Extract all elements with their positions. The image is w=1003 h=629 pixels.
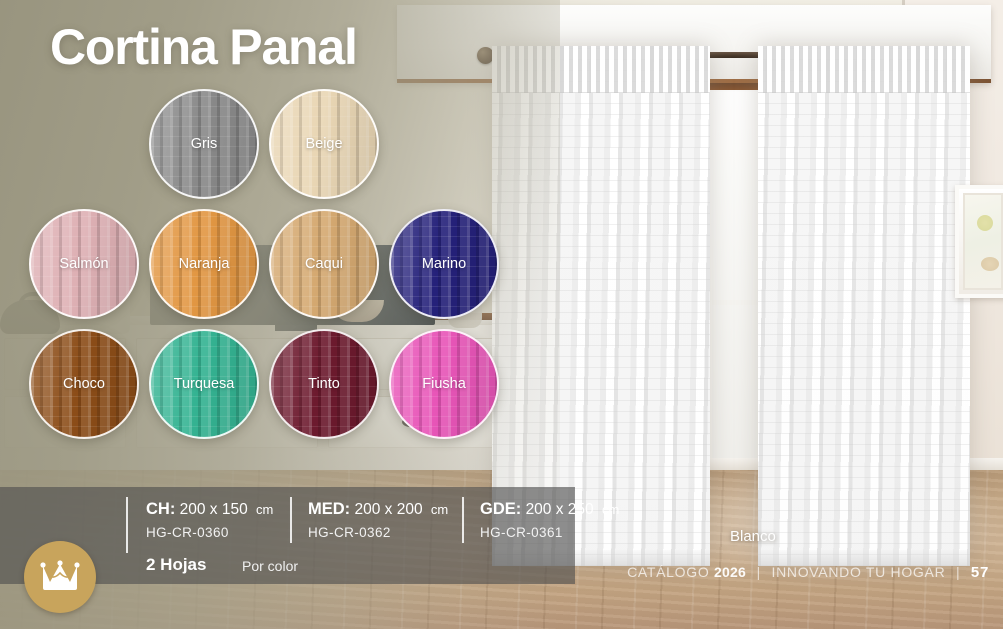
- footer-page-number: 57: [971, 564, 989, 581]
- crown-icon: [40, 560, 80, 594]
- page-title: Cortina Panal: [50, 18, 357, 76]
- footer-year: 2026: [714, 564, 746, 580]
- size-dimensions: 200 x 150: [180, 501, 248, 518]
- size-option-med[interactable]: MED: 200 x 200 cm HG-CR-0362: [308, 500, 448, 540]
- swatch-turquesa[interactable]: Turquesa: [149, 329, 259, 439]
- size-unit: cm: [431, 502, 448, 517]
- size-code: HG-CR-0361: [480, 525, 619, 540]
- swatch-naranja[interactable]: Naranja: [149, 209, 259, 319]
- curtain-header-gather: [758, 46, 970, 93]
- main-color-label: Blanco: [730, 528, 776, 545]
- framed-picture: [955, 185, 1003, 298]
- swatch-marino[interactable]: Marino: [389, 209, 499, 319]
- swatch-label: Caqui: [271, 256, 377, 272]
- size-abbr: MED:: [308, 500, 350, 518]
- size-abbr: CH:: [146, 500, 175, 518]
- page-footer: CATÁLOGO 2026 | INNOVANDO TU HOGAR | 57: [627, 564, 989, 581]
- footer-tagline: INNOVANDO TU HOGAR: [772, 564, 946, 580]
- sheets-count: 2 Hojas: [146, 555, 206, 575]
- size-dimensions: 200 x 200: [354, 501, 422, 518]
- framed-picture-art: [981, 257, 999, 271]
- specs-divider: [290, 497, 292, 543]
- size-unit: cm: [602, 502, 619, 517]
- swatch-label: Naranja: [151, 256, 257, 272]
- catalog-page: Cortina Panal Gris Beige Salmón Naranja …: [0, 0, 1003, 629]
- curtain-panel-right: [758, 46, 970, 566]
- swatch-label: Turquesa: [151, 376, 257, 392]
- framed-picture-canvas: [963, 193, 1003, 290]
- specs-divider: [462, 497, 464, 543]
- brand-badge[interactable]: [24, 541, 96, 613]
- swatch-label: Tinto: [271, 376, 377, 392]
- swatch-salmon[interactable]: Salmón: [29, 209, 139, 319]
- swatch-beige[interactable]: Beige: [269, 89, 379, 199]
- swatch-gris[interactable]: Gris: [149, 89, 259, 199]
- specs-divider: [126, 497, 128, 553]
- swatch-label: Choco: [31, 376, 137, 392]
- size-option-gde[interactable]: GDE: 200 x 250 cm HG-CR-0361: [480, 500, 619, 540]
- curtain-panal-weave: [758, 46, 970, 566]
- size-title: MED: 200 x 200 cm: [308, 500, 448, 519]
- framed-picture-art: [977, 215, 993, 231]
- swatch-choco[interactable]: Choco: [29, 329, 139, 439]
- swatch-label: Beige: [271, 136, 377, 152]
- per-color-note: Por color: [242, 558, 298, 574]
- swatch-label: Salmón: [31, 256, 137, 272]
- swatch-tinto[interactable]: Tinto: [269, 329, 379, 439]
- swatch-label: Marino: [391, 256, 497, 272]
- swatch-label: Fiusha: [391, 376, 497, 392]
- size-code: HG-CR-0362: [308, 525, 448, 540]
- footer-separator: |: [956, 564, 960, 580]
- size-title: GDE: 200 x 250 cm: [480, 500, 619, 519]
- swatch-fiusha[interactable]: Fiusha: [389, 329, 499, 439]
- size-option-ch[interactable]: CH: 200 x 150 cm HG-CR-0360: [146, 500, 273, 540]
- swatch-caqui[interactable]: Caqui: [269, 209, 379, 319]
- size-unit: cm: [256, 502, 273, 517]
- size-code: HG-CR-0360: [146, 525, 273, 540]
- footer-catalog-label: CATÁLOGO: [627, 564, 709, 580]
- size-title: CH: 200 x 150 cm: [146, 500, 273, 519]
- size-dimensions: 200 x 250: [526, 501, 594, 518]
- footer-separator: |: [757, 564, 761, 580]
- swatch-label: Gris: [151, 136, 257, 152]
- size-abbr: GDE:: [480, 500, 521, 518]
